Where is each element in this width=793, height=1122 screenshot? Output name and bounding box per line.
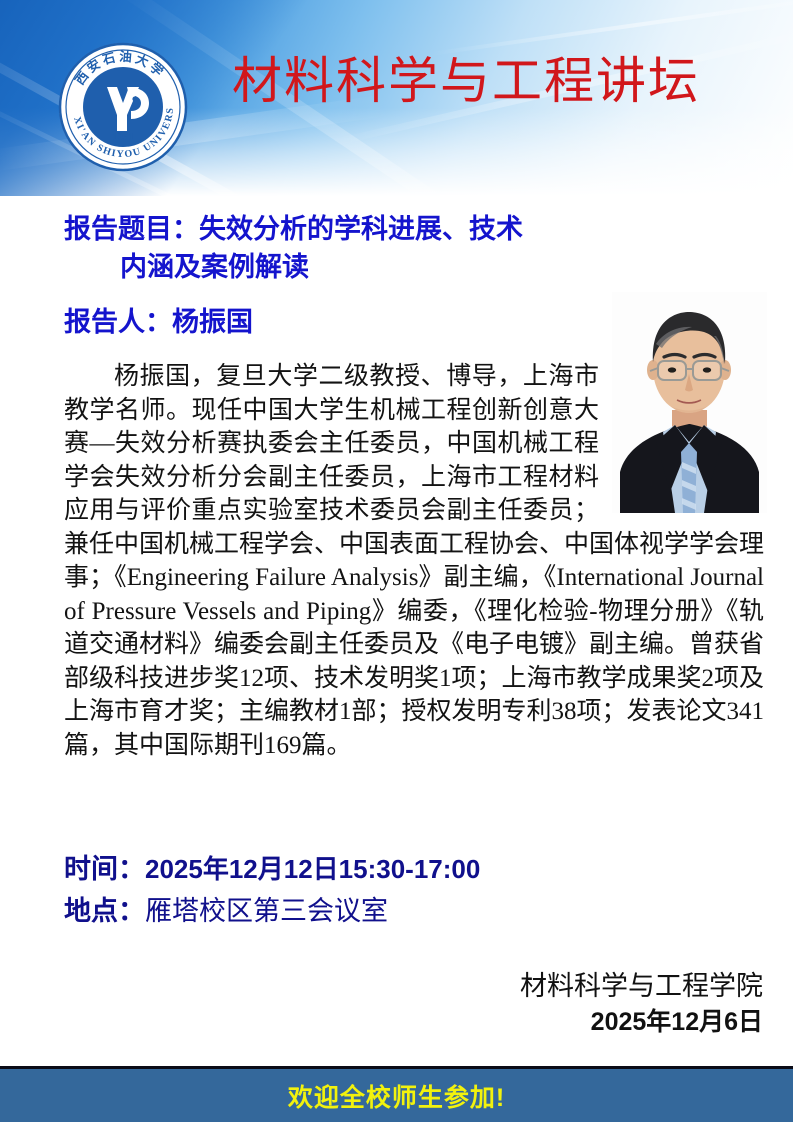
event-time-label: 时间： <box>64 854 145 884</box>
university-seal-icon: 1951 西安石油大学 XI'AN SHIYOU UNIVERSITY <box>57 41 189 173</box>
event-place-label: 地点： <box>64 896 145 926</box>
portrait-text-wrap-spacer <box>599 360 764 520</box>
svg-text:1951: 1951 <box>112 131 134 143</box>
event-time-row: 时间：2025年12月12日15:30-17:00 <box>64 848 480 890</box>
speaker-biography: 杨振国，复旦大学二级教授、博导，上海市教学名师。现任中国大学生机械工程创新创意大… <box>64 360 764 762</box>
talk-title: 报告题目：失效分析的学科进展、技术 内涵及案例解读 <box>64 210 664 286</box>
footer-welcome-text: 欢迎全校师生参加! <box>0 1078 793 1114</box>
event-time-value: 2025年12月12日15:30-17:00 <box>145 854 480 884</box>
event-details: 时间：2025年12月12日15:30-17:00 地点：雁塔校区第三会议室 <box>64 848 480 932</box>
issuing-signature: 材料科学与工程学院 2025年12月6日 <box>520 968 763 1040</box>
header-light-streak <box>430 0 793 56</box>
talk-title-line2: 内涵及案例解读 <box>64 248 664 286</box>
event-place-value: 雁塔校区第三会议室 <box>145 896 388 926</box>
issuing-date: 2025年12月6日 <box>520 1004 763 1040</box>
talk-title-line1: 报告题目：失效分析的学科进展、技术 <box>64 214 523 244</box>
event-place-row: 地点：雁塔校区第三会议室 <box>64 890 480 932</box>
speaker-name-heading: 报告人：杨振国 <box>64 300 253 339</box>
seminar-poster: 1951 西安石油大学 XI'AN SHIYOU UNIVERSITY 材料科学… <box>0 0 793 1122</box>
issuing-organization: 材料科学与工程学院 <box>520 968 763 1004</box>
university-logo: 1951 西安石油大学 XI'AN SHIYOU UNIVERSITY <box>57 41 189 173</box>
banner-title: 材料科学与工程讲坛 <box>232 52 752 110</box>
